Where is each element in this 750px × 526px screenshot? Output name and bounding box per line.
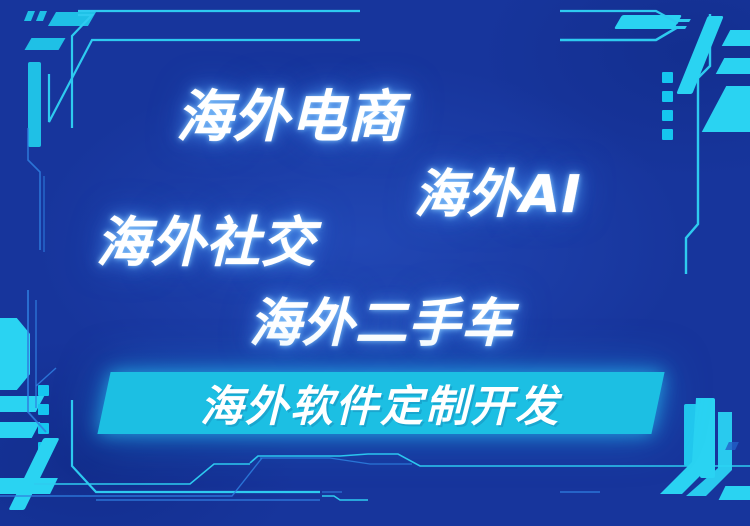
top-left-slanted-bar-2 xyxy=(25,38,66,50)
bottom-circuit-traces xyxy=(0,430,750,526)
headline-overseas-used-cars: 海外二手车 xyxy=(249,281,514,356)
right-stripe-2 xyxy=(716,58,750,74)
left-stripe-2 xyxy=(0,422,40,438)
left-stripe-1 xyxy=(0,396,44,412)
bottom-right-tab-bar xyxy=(719,486,750,500)
left-dot-2 xyxy=(38,404,49,415)
banner-label-overseas-software-custom-development: 海外软件定制开发 xyxy=(130,378,630,428)
bottom-right-dim-mark xyxy=(725,442,739,450)
right-dot-3 xyxy=(662,110,673,121)
bottom-left-slanted-bar xyxy=(8,438,59,510)
right-dot-column xyxy=(662,72,673,140)
left-dot-3 xyxy=(38,423,49,434)
top-right-diagonal-bar xyxy=(676,16,724,94)
bottom-left-tab-bar xyxy=(0,478,58,494)
headline-overseas-ecommerce: 海外电商 xyxy=(176,72,404,153)
right-frame-bracket xyxy=(640,14,750,274)
left-dot-4 xyxy=(38,442,49,453)
top-right-slanted-bar xyxy=(614,15,682,29)
right-stripe-1 xyxy=(722,30,750,46)
right-stripe-3 xyxy=(702,86,750,132)
top-left-tick-mark-1 xyxy=(24,11,35,21)
top-right-arrow-lines xyxy=(560,0,750,70)
bottom-right-hook-bar-outer xyxy=(700,398,715,478)
headline-overseas-ai: 海外AI xyxy=(414,152,582,227)
right-dot-4 xyxy=(662,129,673,140)
top-left-tick-mark-2 xyxy=(36,11,47,21)
top-left-slanted-bar-1 xyxy=(48,12,96,26)
top-left-vertical-bar xyxy=(28,62,41,147)
left-dot-1 xyxy=(38,385,49,396)
left-hex-block xyxy=(0,318,30,390)
bottom-right-bracket xyxy=(640,390,750,526)
bottom-right-hook-bar-inner xyxy=(684,404,697,466)
left-dot-column xyxy=(38,385,49,453)
poster-canvas: 海外电商 海外AI 海外社交 海外二手车 海外软件定制开发 xyxy=(0,0,750,526)
right-dot-1 xyxy=(662,72,673,83)
top-right-dash-1 xyxy=(675,19,691,22)
top-right-dash-2 xyxy=(671,26,687,29)
headline-overseas-social: 海外社交 xyxy=(96,198,316,277)
right-dot-2 xyxy=(662,91,673,102)
